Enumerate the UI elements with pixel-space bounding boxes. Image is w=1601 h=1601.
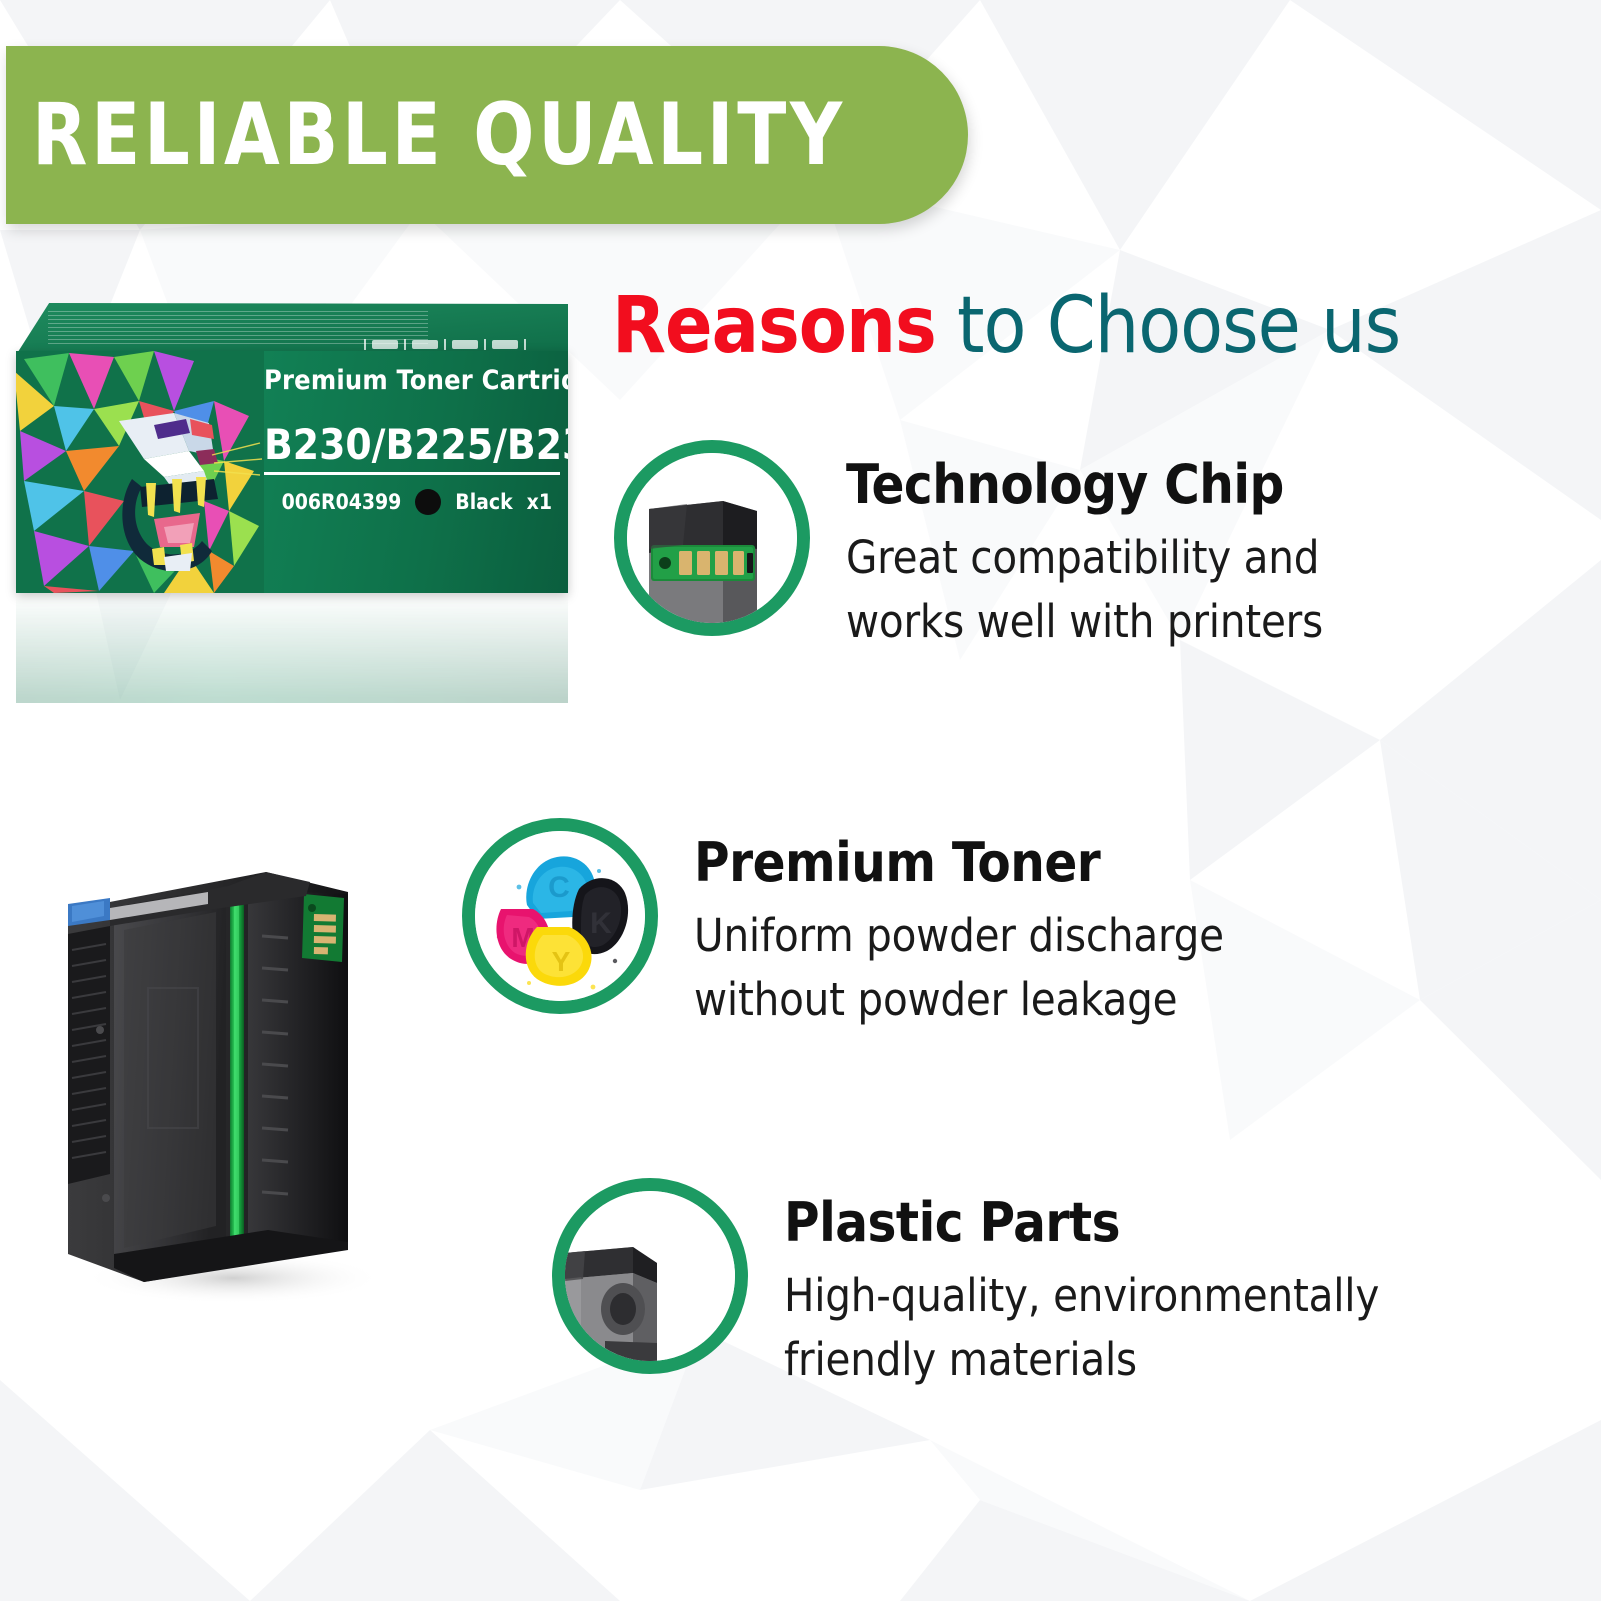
black-color-dot-icon: [415, 489, 441, 515]
page-title: Reasons to Choose us: [612, 287, 1400, 365]
box-product-title: Premium Toner Cartridge: [264, 365, 560, 396]
infographic-page: RELIABLE QUALITY: [0, 0, 1601, 1601]
feature-line-1: Great compatibility and: [846, 526, 1323, 590]
box-front-face: Premium Toner Cartridge B230/B225/B235 0…: [16, 351, 568, 593]
feature-line-2: friendly materials: [784, 1328, 1379, 1392]
svg-text:C: C: [548, 871, 570, 904]
box-flap-icons: [364, 338, 554, 351]
headline-emphasis: Reasons: [612, 281, 936, 371]
box-label-text: Premium Toner Cartridge B230/B225/B235 0…: [264, 365, 560, 515]
box-quantity: x1: [527, 490, 552, 514]
feature-plastic-parts: Plastic Parts High-quality, environmenta…: [552, 1178, 1379, 1392]
feature-premium-toner: C K M Y: [462, 818, 1224, 1032]
toner-chip-icon: [614, 440, 810, 636]
headline-rest: to Choose us: [936, 281, 1400, 371]
product-box: Premium Toner Cartridge B230/B225/B235 0…: [16, 303, 568, 593]
box-top-flap: [16, 303, 568, 355]
feature-line-1: High-quality, environmentally: [784, 1264, 1379, 1328]
box-model-number: B230/B225/B235: [264, 420, 560, 475]
banner-label: RELIABLE QUALITY: [32, 92, 846, 178]
feature-line-2: without powder leakage: [694, 968, 1224, 1032]
feature-title: Technology Chip: [846, 456, 1323, 514]
plastic-part-icon: [552, 1178, 748, 1374]
feature-line-1: Uniform powder discharge: [694, 904, 1224, 968]
product-box-reflection: [16, 593, 568, 703]
svg-text:K: K: [590, 907, 612, 940]
box-color-name: Black: [455, 490, 512, 514]
colorful-lion-icon: [16, 351, 264, 593]
box-spec-row: 006R04399 Black x1: [264, 489, 560, 515]
cmyk-toner-powder-icon: C K M Y: [462, 818, 658, 1014]
box-part-number: 006R04399: [282, 490, 402, 514]
feature-line-2: works well with printers: [846, 590, 1323, 654]
reliable-quality-banner: RELIABLE QUALITY: [6, 46, 968, 224]
feature-title: Plastic Parts: [784, 1194, 1379, 1252]
toner-cartridge-photo: [48, 838, 400, 1306]
feature-technology-chip: Technology Chip Great compatibility and …: [614, 440, 1323, 654]
cartridge-chip-icon: [302, 894, 344, 962]
svg-text:Y: Y: [552, 946, 571, 977]
feature-title: Premium Toner: [694, 834, 1224, 892]
